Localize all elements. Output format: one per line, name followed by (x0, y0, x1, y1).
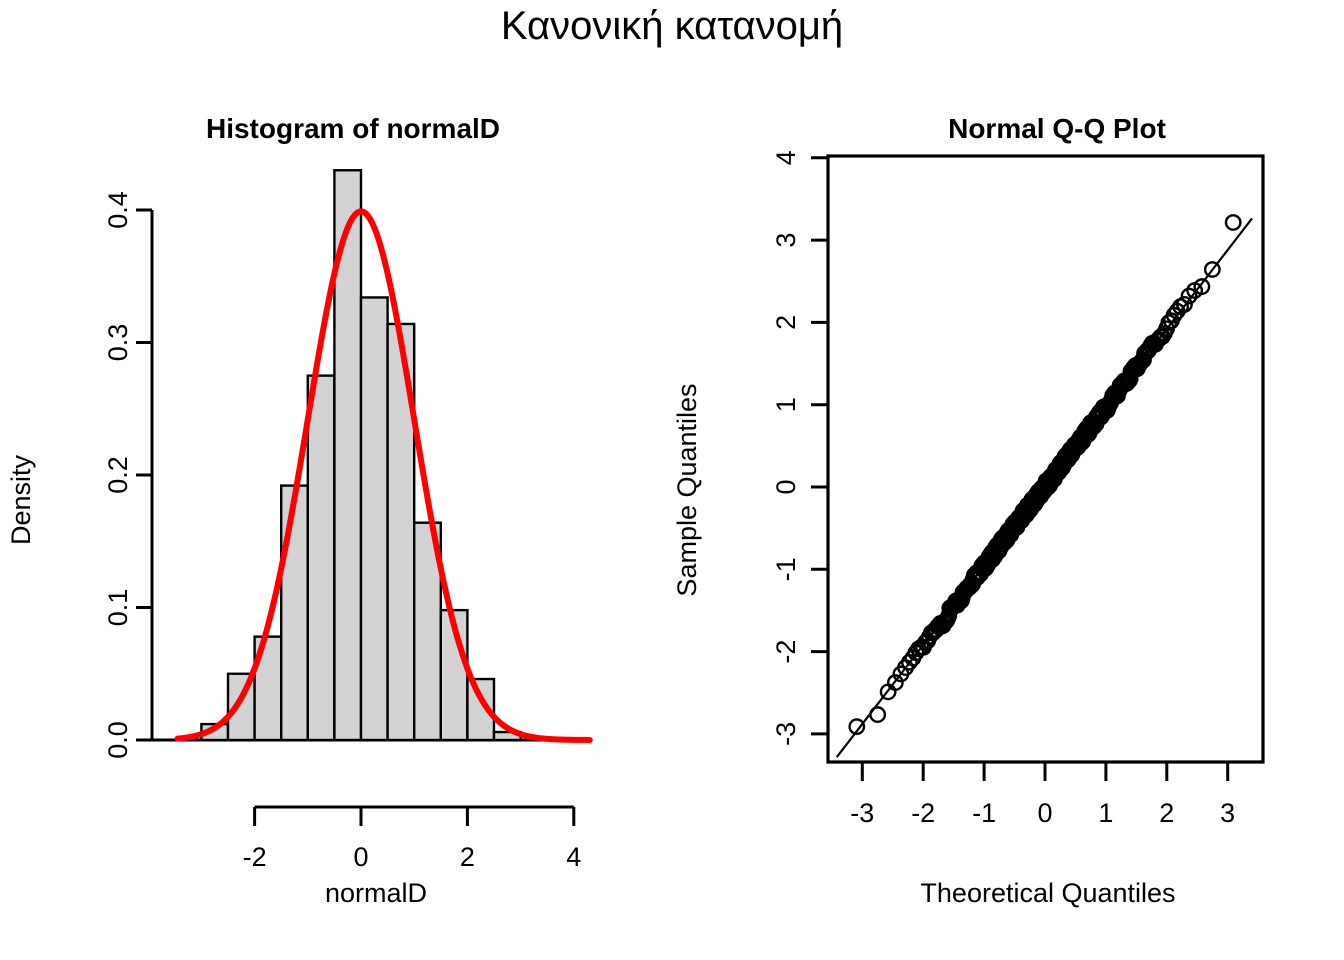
qq-y-tick-label: 1 (771, 397, 801, 412)
histogram-panel: Histogram of normalD Density normalD 0.0… (0, 40, 672, 960)
histogram-bar (281, 486, 308, 740)
qq-x-axis: -3-2-10123 (850, 762, 1235, 828)
qq-x-tick-label: -3 (850, 798, 874, 828)
histogram-x-tick-label: 0 (353, 842, 368, 872)
histogram-title: Histogram of normalD (206, 113, 500, 144)
qq-y-tick-label: -2 (771, 640, 801, 664)
qq-y-tick-label: 0 (771, 479, 801, 494)
histogram-bars (152, 170, 578, 740)
qq-title: Normal Q-Q Plot (948, 113, 1166, 144)
histogram-x-tick-label: -2 (243, 842, 267, 872)
qq-y-axis-label: Sample Quantiles (672, 383, 702, 596)
qq-x-tick-label: 0 (1037, 798, 1052, 828)
histogram-x-axis: -2024 (243, 807, 582, 872)
qq-x-tick-label: 3 (1220, 798, 1235, 828)
histogram-y-tick-label: 0.2 (103, 456, 133, 494)
figure-canvas: Κανονική κατανομή Histogram of normalD D… (0, 0, 1344, 960)
qq-y-tick-label: 3 (771, 233, 801, 248)
qq-x-tick-label: -2 (911, 798, 935, 828)
qq-x-tick-label: 1 (1098, 798, 1113, 828)
histogram-y-tick-label: 0.0 (103, 721, 133, 759)
histogram-bar (308, 376, 335, 740)
qq-y-tick-label: 2 (771, 315, 801, 330)
histogram-bar (361, 297, 388, 740)
qq-x-axis-label: Theoretical Quantiles (920, 878, 1175, 908)
qq-x-tick-label: -1 (972, 798, 996, 828)
histogram-y-axis-label: Density (6, 454, 36, 545)
histogram-x-tick-label: 2 (460, 842, 475, 872)
histogram-y-tick-label: 0.1 (103, 589, 133, 627)
qq-y-tick-label: -3 (771, 722, 801, 746)
qq-y-axis: -3-2-101234 (771, 150, 828, 746)
histogram-y-tick-label: 0.4 (103, 191, 133, 229)
histogram-x-tick-label: 4 (566, 842, 581, 872)
histogram-y-axis: 0.00.10.20.30.4 (103, 191, 152, 759)
qq-data-points (850, 215, 1241, 734)
histogram-y-tick-label: 0.3 (103, 324, 133, 362)
qq-y-tick-label: 4 (771, 150, 801, 165)
qq-y-tick-label: -1 (771, 557, 801, 581)
histogram-x-axis-label: normalD (325, 878, 427, 908)
qq-point (1226, 215, 1240, 229)
qq-panel: Normal Q-Q Plot Sample Quantiles Theoret… (672, 40, 1344, 960)
qq-reference-line (837, 218, 1252, 757)
qq-x-tick-label: 2 (1159, 798, 1174, 828)
